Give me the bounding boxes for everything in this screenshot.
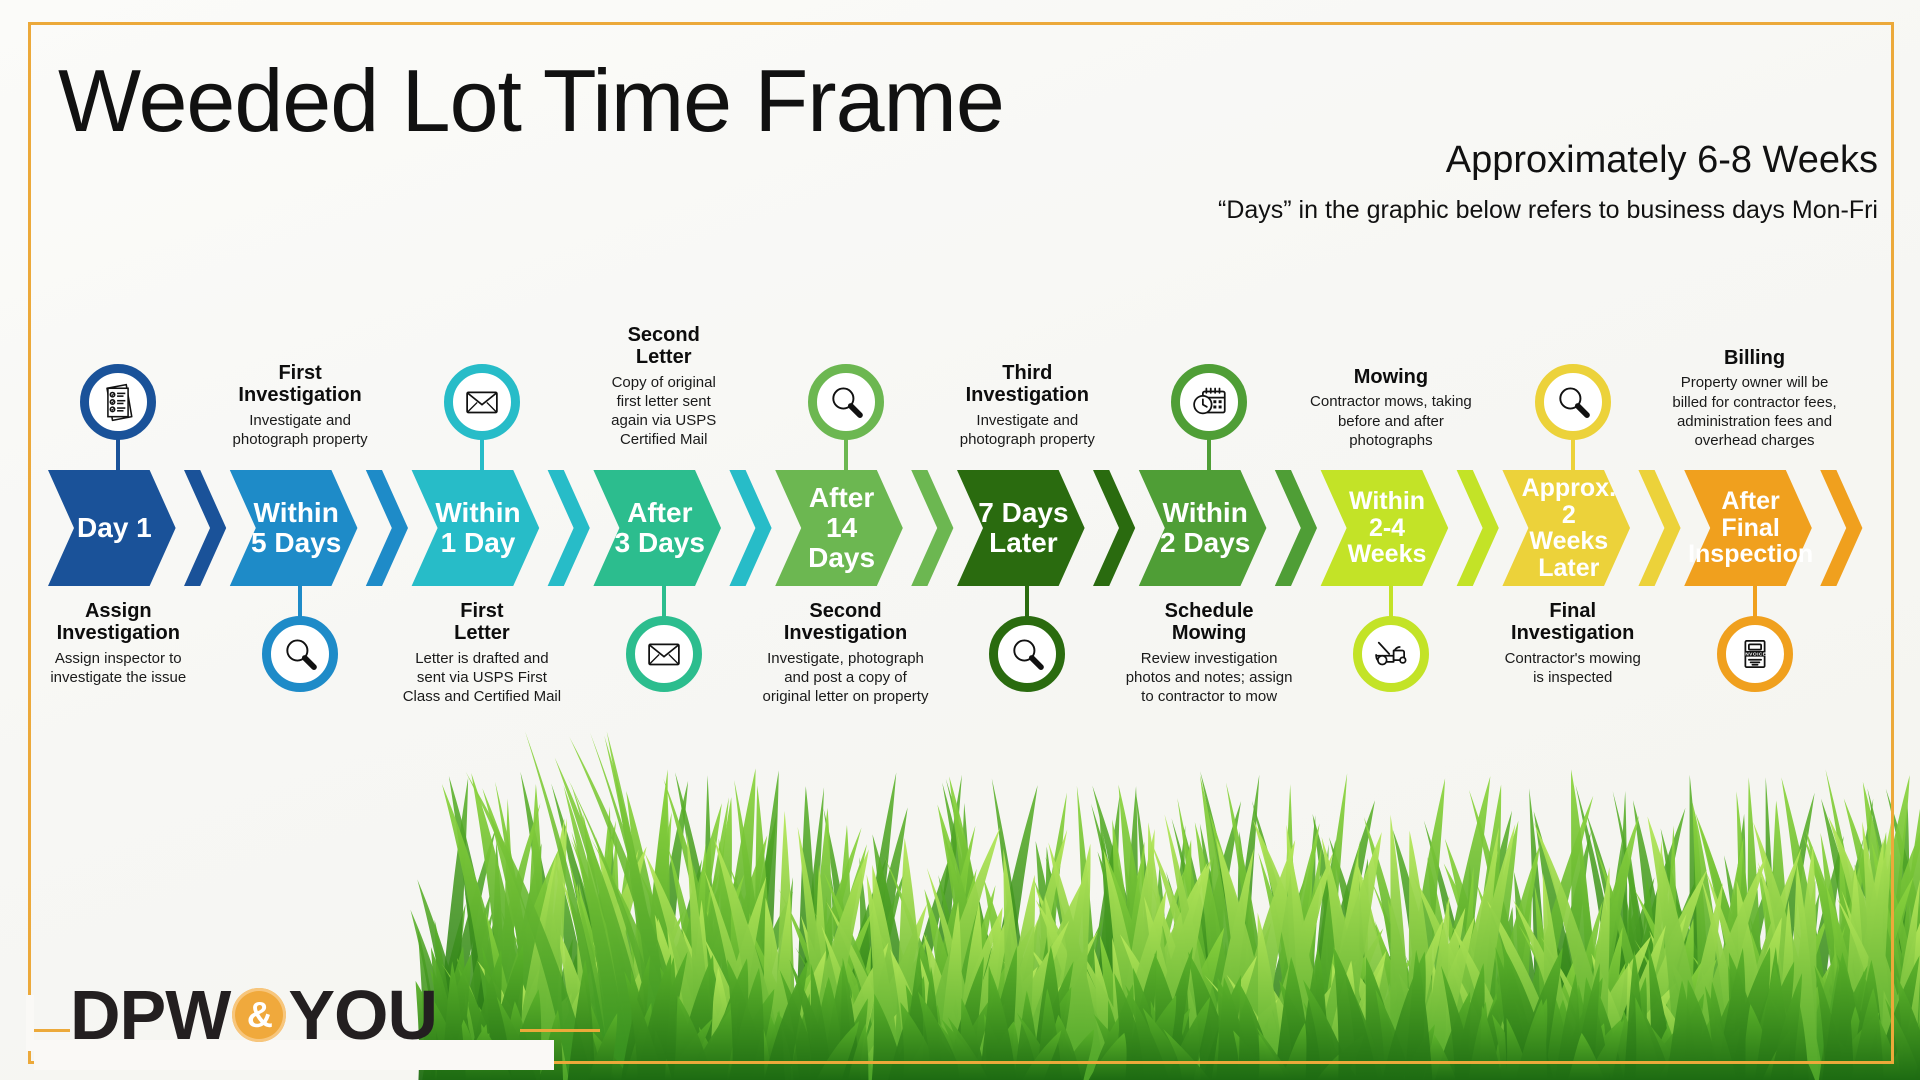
timeline-caption-9: Final InvestigationContractor's mowing i… (1459, 600, 1686, 687)
timeline-chevron-2 (230, 470, 358, 586)
timeline-chevron-separator-9 (1638, 470, 1680, 586)
timeline-caption-title-6: Third Investigation (914, 362, 1141, 407)
magnifier-icon (808, 364, 884, 440)
timeline-caption-5: Second InvestigationInvestigate, photogr… (732, 600, 959, 706)
business-days-note: “Days” in the graphic below refers to bu… (1218, 196, 1878, 225)
timeline-caption-desc-7: Review investigation photos and notes; a… (1095, 649, 1322, 707)
logo-dpw: DPW (70, 980, 230, 1050)
logo-ampersand-badge: & (232, 988, 286, 1042)
timeline-caption-title-7: Schedule Mowing (1095, 600, 1322, 645)
magnifier-icon (1535, 364, 1611, 440)
timeline-chevron-separator-7 (1275, 470, 1317, 586)
timeline-band (0, 470, 1920, 586)
logo-rule-right (520, 1029, 600, 1032)
timeline-caption-desc-3: Letter is drafted and sent via USPS Firs… (368, 649, 595, 707)
timeline-caption-1: Assign InvestigationAssign inspector to … (5, 600, 232, 687)
timeline-caption-title-10: Billing (1641, 347, 1868, 369)
timeline-caption-10: BillingProperty owner will be billed for… (1641, 347, 1868, 450)
timeline-caption-title-8: Mowing (1277, 366, 1504, 388)
timeline-caption-title-2: First Investigation (186, 362, 413, 407)
svg-text:INVOICE: INVOICE (1743, 651, 1766, 657)
timeline-chevron-3 (412, 470, 540, 586)
timeline-chevron-separator-2 (366, 470, 408, 586)
timeline-caption-desc-10: Property owner will be billed for contra… (1641, 373, 1868, 450)
timeline-caption-4: Second LetterCopy of original first lett… (550, 324, 777, 450)
timeline-caption-3: First LetterLetter is drafted and sent v… (368, 600, 595, 706)
timeline-chevron-7 (1139, 470, 1267, 586)
logo-rule-left (34, 1029, 70, 1032)
timeline-caption-title-5: Second Investigation (732, 600, 959, 645)
timeline-caption-2: First InvestigationInvestigate and photo… (186, 362, 413, 449)
timeline-chevron-separator-8 (1457, 470, 1499, 586)
duration-subtitle: Approximately 6-8 Weeks (1446, 139, 1878, 182)
timeline-chevron-8 (1321, 470, 1449, 586)
timeline-chevron-10 (1684, 470, 1812, 586)
calendar-clock-icon (1171, 364, 1247, 440)
invoice-icon: INVOICE (1717, 616, 1793, 692)
timeline-chevron-1 (48, 470, 176, 586)
timeline-caption-title-9: Final Investigation (1459, 600, 1686, 645)
timeline-caption-desc-9: Contractor's mowing is inspected (1459, 649, 1686, 687)
infographic-canvas: Weeded Lot Time Frame Approximately 6-8 … (0, 0, 1920, 1080)
timeline-chevron-separator-6 (1093, 470, 1135, 586)
timeline-chevron-separator-10 (1820, 470, 1862, 586)
timeline-caption-desc-8: Contractor mows, taking before and after… (1277, 392, 1504, 450)
timeline-chevron-separator-1 (184, 470, 226, 586)
timeline-chevron-9 (1502, 470, 1630, 586)
timeline-caption-desc-5: Investigate, photograph and post a copy … (732, 649, 959, 707)
envelope-icon (626, 616, 702, 692)
timeline-caption-title-1: Assign Investigation (5, 600, 232, 645)
timeline-caption-desc-4: Copy of original first letter sent again… (550, 373, 777, 450)
magnifier-icon (262, 616, 338, 692)
timeline-caption-title-4: Second Letter (550, 324, 777, 369)
timeline-chevron-separator-3 (548, 470, 590, 586)
magnifier-icon (989, 616, 1065, 692)
timeline-chevron-6 (957, 470, 1085, 586)
timeline-caption-7: Schedule MowingReview investigation phot… (1095, 600, 1322, 706)
timeline-chevron-4 (593, 470, 721, 586)
timeline-caption-desc-1: Assign inspector to investigate the issu… (5, 649, 232, 687)
logo-you: YOU (288, 980, 437, 1050)
envelope-icon (444, 364, 520, 440)
timeline-caption-8: MowingContractor mows, taking before and… (1277, 366, 1504, 450)
timeline-caption-title-3: First Letter (368, 600, 595, 645)
timeline-chevron-separator-4 (729, 470, 771, 586)
lawn-mower-icon (1353, 616, 1429, 692)
timeline-caption-desc-6: Investigate and photograph property (914, 411, 1141, 449)
clipboard-checklist-icon (80, 364, 156, 440)
page-title: Weeded Lot Time Frame (58, 50, 1004, 152)
timeline-caption-6: Third InvestigationInvestigate and photo… (914, 362, 1141, 449)
timeline-chevron-5 (775, 470, 903, 586)
timeline-caption-desc-2: Investigate and photograph property (186, 411, 413, 449)
frame-mask-left (26, 995, 34, 1051)
timeline-chevron-separator-5 (911, 470, 953, 586)
dpw-and-you-logo: DPW & YOU (70, 972, 437, 1058)
